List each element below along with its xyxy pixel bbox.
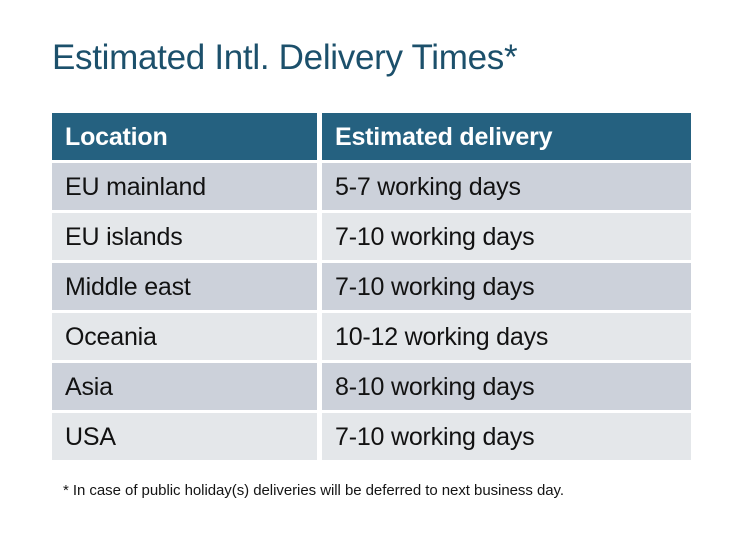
table-row: Asia 8-10 working days — [52, 363, 691, 410]
cell-location: EU islands — [52, 213, 317, 260]
page-title: Estimated Intl. Delivery Times* — [52, 36, 517, 80]
cell-estimated-delivery: 5-7 working days — [322, 163, 691, 210]
column-header-location: Location — [52, 113, 317, 160]
table-header-row: Location Estimated delivery — [52, 113, 691, 160]
cell-estimated-delivery: 8-10 working days — [322, 363, 691, 410]
table-row: Oceania 10-12 working days — [52, 313, 691, 360]
delivery-times-table: Location Estimated delivery EU mainland … — [52, 113, 691, 460]
cell-estimated-delivery: 7-10 working days — [322, 213, 691, 260]
cell-estimated-delivery: 7-10 working days — [322, 413, 691, 460]
column-header-estimated-delivery: Estimated delivery — [322, 113, 691, 160]
table-row: Middle east 7-10 working days — [52, 263, 691, 310]
cell-location: Oceania — [52, 313, 317, 360]
cell-location: EU mainland — [52, 163, 317, 210]
table-row: EU islands 7-10 working days — [52, 213, 691, 260]
cell-estimated-delivery: 10-12 working days — [322, 313, 691, 360]
cell-location: Asia — [52, 363, 317, 410]
cell-location: Middle east — [52, 263, 317, 310]
table-row: EU mainland 5-7 working days — [52, 163, 691, 210]
table-row: USA 7-10 working days — [52, 413, 691, 460]
cell-location: USA — [52, 413, 317, 460]
table-footnote: * In case of public holiday(s) deliverie… — [63, 481, 564, 501]
cell-estimated-delivery: 7-10 working days — [322, 263, 691, 310]
